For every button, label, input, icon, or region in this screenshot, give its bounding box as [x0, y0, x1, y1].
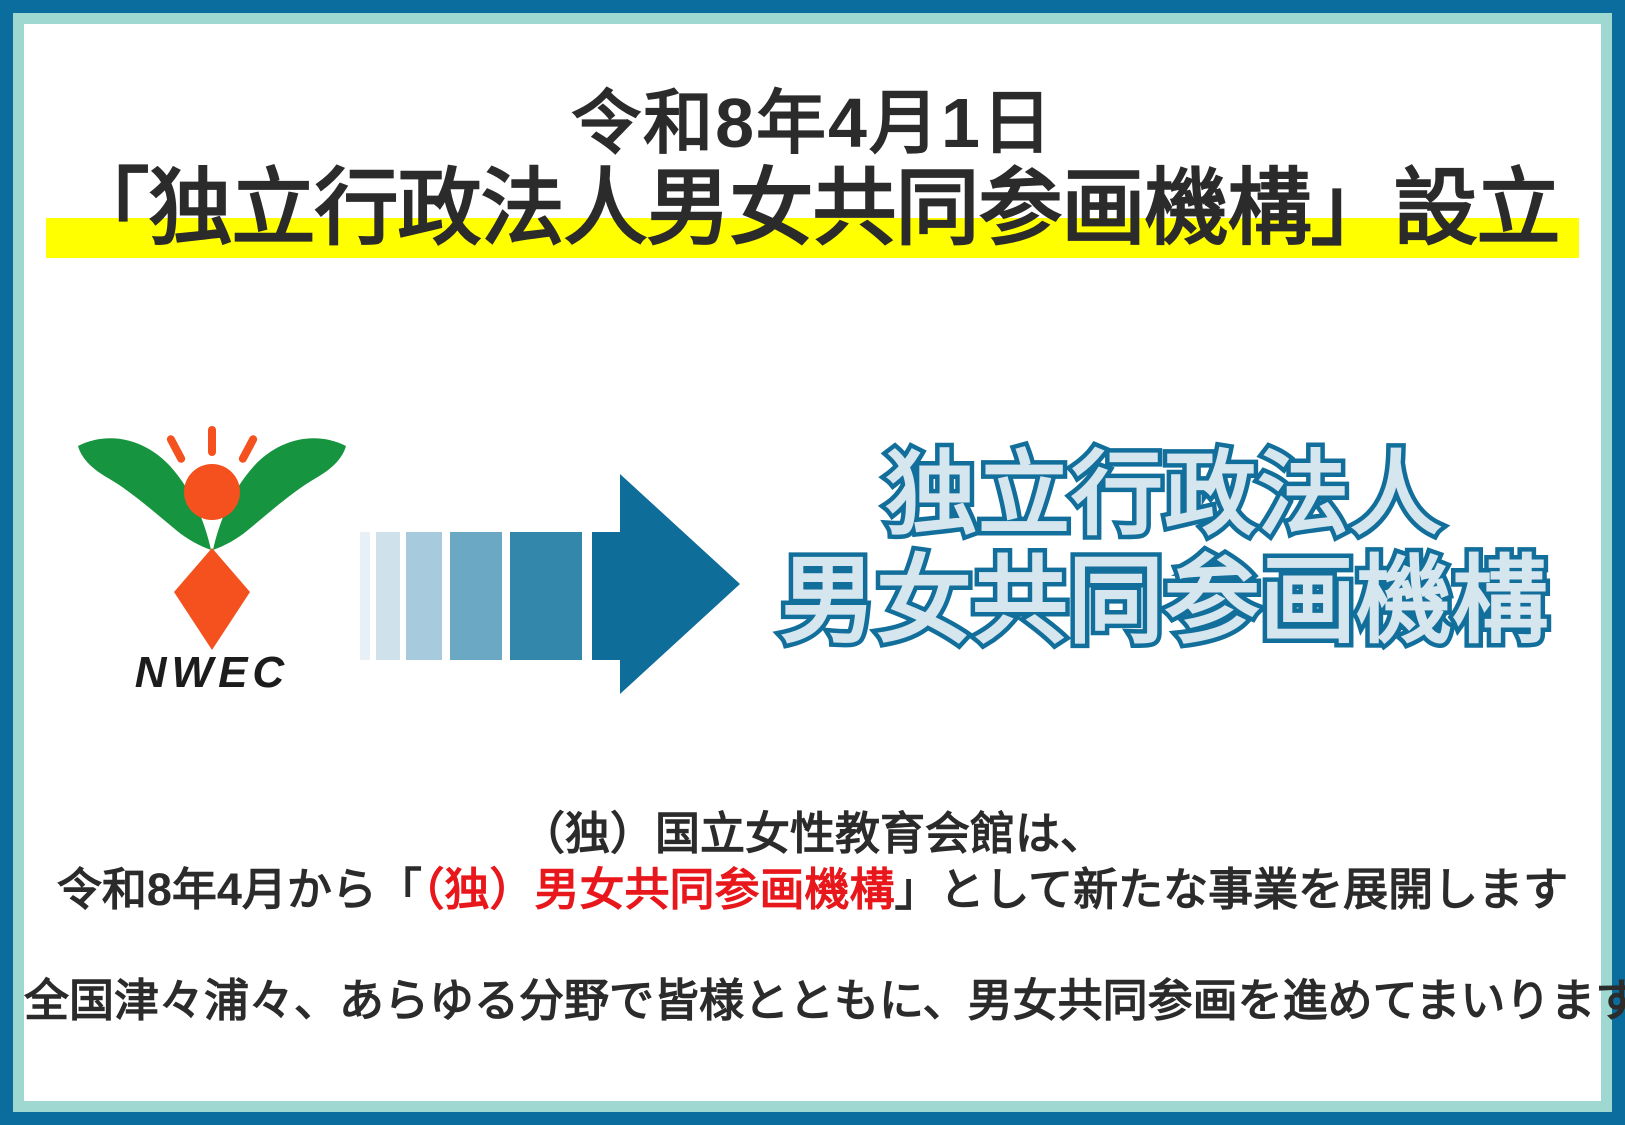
transition-arrow-icon — [354, 460, 744, 705]
new-org-name-line1: 独立行政法人 — [724, 444, 1604, 548]
transition-arrow — [354, 460, 744, 705]
new-org-name-line2: 男女共同参画機構 — [724, 548, 1604, 656]
poster-footer: （独）国立女性教育会館は、 令和8年4月から「（独）男女共同参画機構」として新た… — [24, 806, 1601, 1029]
new-org-name: 独立行政法人 男女共同参画機構 — [724, 444, 1604, 656]
poster-canvas: 令和8年4月1日 「独立行政法人男女共同参画機構」設立 — [24, 24, 1601, 1101]
footer-line-2: 令和8年4月から「（独）男女共同参画機構」として新たな事業を展開します — [24, 862, 1601, 918]
footer-line-2-prefix: 令和8年4月から「 — [57, 864, 422, 915]
footer-line-1: （独）国立女性教育会館は、 — [24, 806, 1601, 862]
poster-heading: 令和8年4月1日 「独立行政法人男女共同参画機構」設立 — [24, 86, 1601, 250]
footer-line-3: 全国津々浦々、あらゆる分野で皆様とともに、男女共同参画を進めてまいります — [24, 973, 1601, 1029]
transition-band: NWEC 独立行政法人 男女共同参画機構 — [24, 392, 1601, 732]
nwec-logo: NWEC — [62, 400, 362, 710]
heading-title-line: 「独立行政法人男女共同参画機構」設立 — [24, 166, 1601, 250]
nwec-logo-caption: NWEC — [62, 648, 362, 698]
poster-frame-outer: 令和8年4月1日 「独立行政法人男女共同参画機構」設立 — [0, 0, 1625, 1125]
heading-date-line: 令和8年4月1日 — [24, 86, 1601, 162]
poster-frame-inner: 令和8年4月1日 「独立行政法人男女共同参画機構」設立 — [13, 13, 1612, 1112]
footer-line-2-highlight: （独）男女共同参画機構 — [422, 864, 895, 915]
heading-title-wrap: 「独立行政法人男女共同参画機構」設立 — [24, 166, 1601, 250]
footer-line-2-suffix: 」として新たな事業を展開します — [894, 864, 1568, 915]
